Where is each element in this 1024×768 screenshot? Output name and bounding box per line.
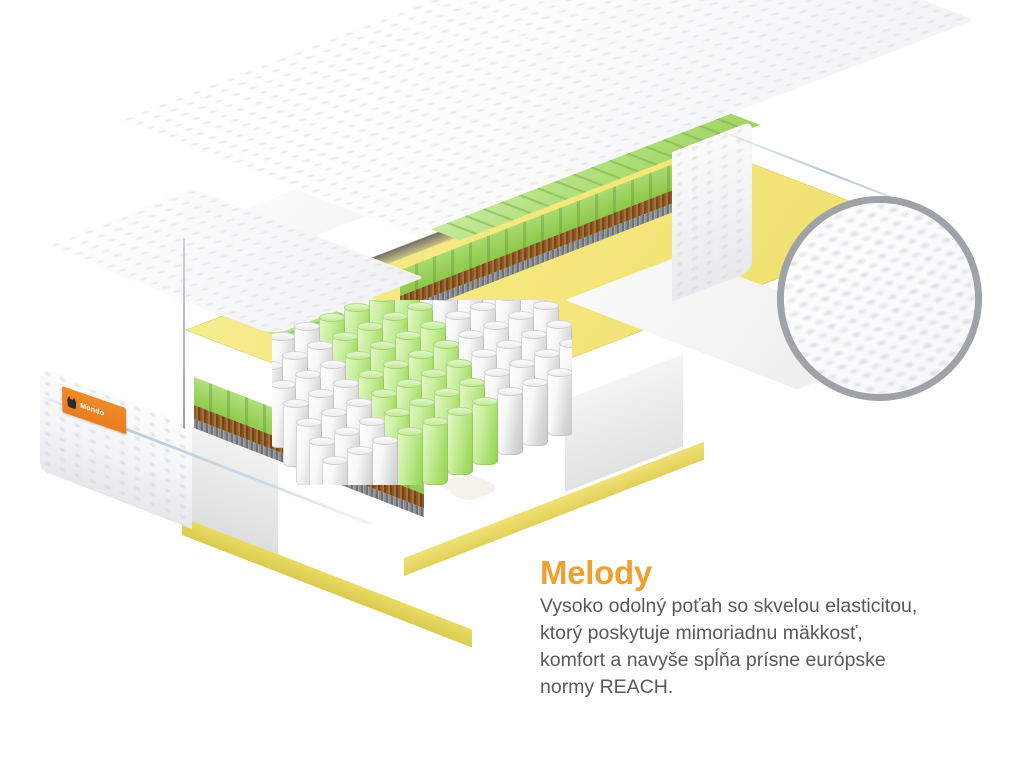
- cat-logo-icon: [66, 394, 77, 411]
- pocket-spring: [322, 460, 348, 485]
- brand-tag-label: Mondo: [80, 402, 104, 417]
- product-copy-block: Melody Vysoko odolný poťah so skvelou el…: [540, 556, 1010, 701]
- description-line-1: Vysoko odolný poťah so skvelou elasticit…: [540, 593, 1010, 620]
- pocket-spring: [372, 440, 398, 485]
- description-line-4: normy REACH.: [540, 674, 1010, 701]
- cover-right-side-face: [672, 121, 752, 302]
- cover-cut-edge: [183, 238, 185, 429]
- pocket-spring: [522, 382, 548, 446]
- pocket-spring: [422, 421, 448, 485]
- pocket-spring: [547, 372, 572, 436]
- product-description: Vysoko odolný poťah so skvelou elasticit…: [540, 593, 1010, 701]
- fabric-magnifier-circle: [777, 196, 982, 401]
- pocket-spring: [497, 391, 523, 455]
- pocket-spring: [397, 431, 423, 485]
- product-image-canvas: Mondo Melody Vysoko odolný poťah so skve…: [0, 0, 1024, 768]
- description-line-3: komfort a navyše spĺňa prísne európske: [540, 647, 1010, 674]
- pocket-spring: [447, 411, 473, 475]
- pocket-spring: [472, 401, 498, 465]
- fabric-texture-closeup: [777, 196, 982, 401]
- product-title: Melody: [540, 556, 1010, 591]
- pocket-spring: [347, 450, 373, 485]
- description-line-2: ktorý poskytuje mimoriadnu mäkkosť,: [540, 620, 1010, 647]
